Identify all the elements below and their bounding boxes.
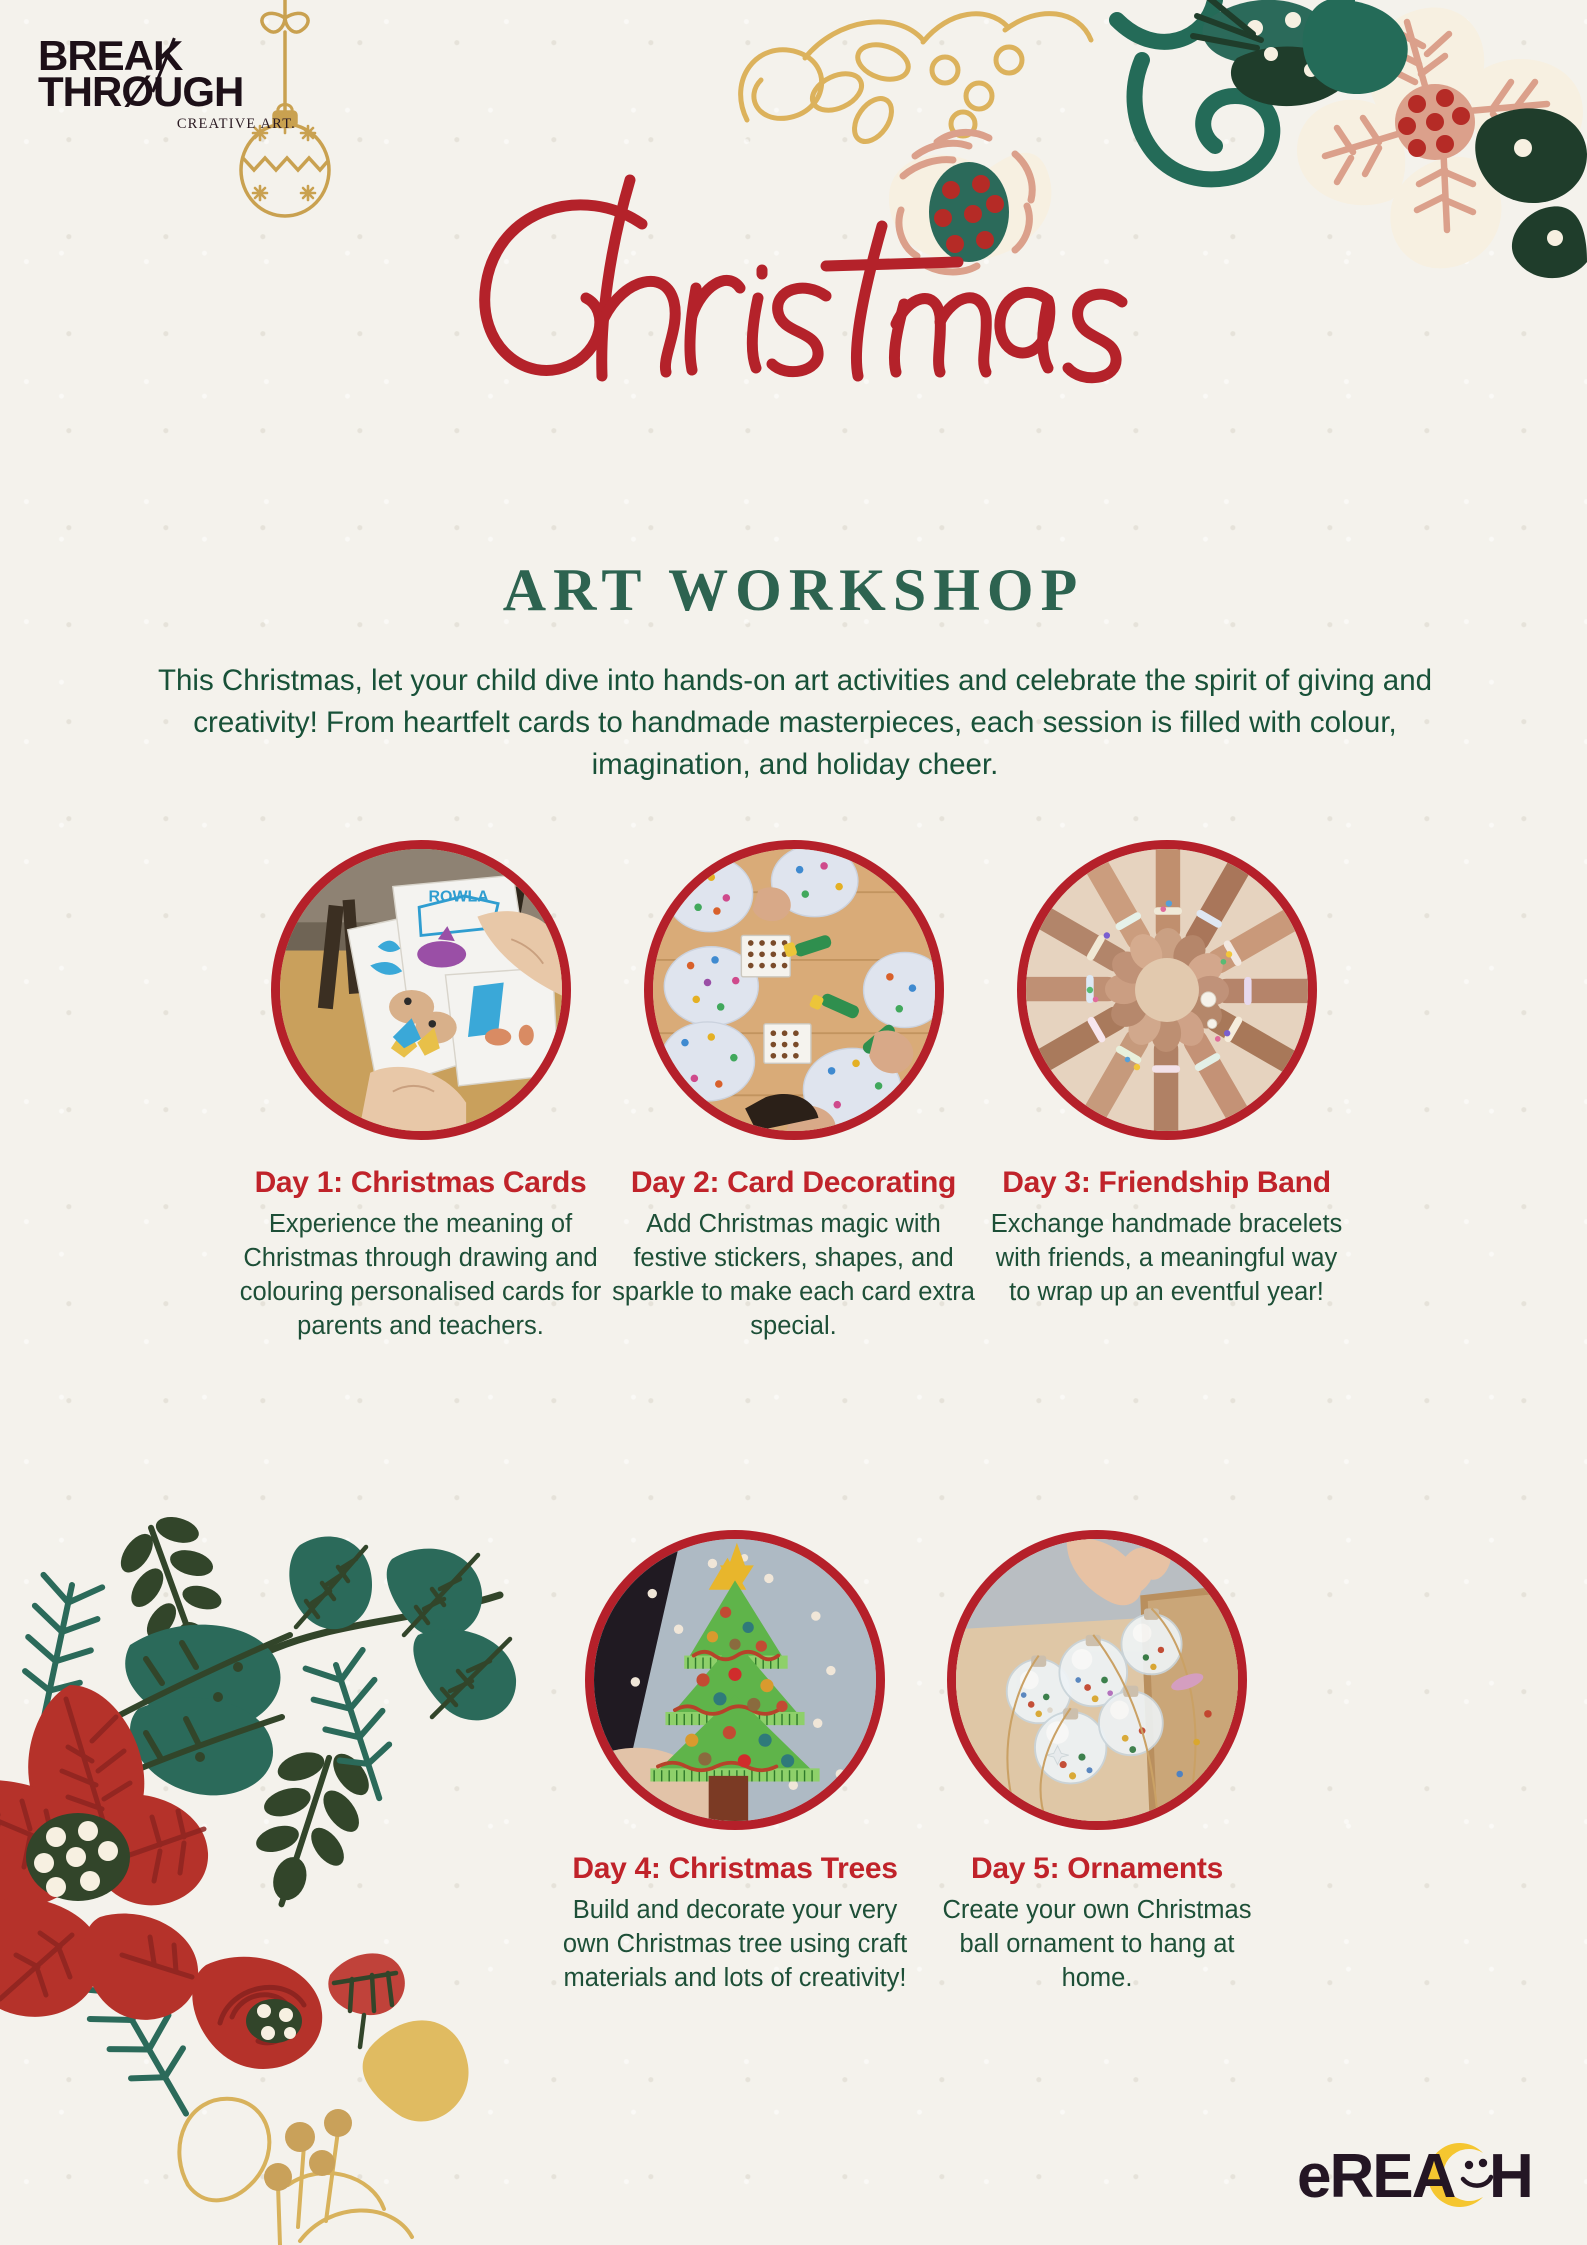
- day-3-description: Exchange handmade bracelets with friends…: [985, 1208, 1348, 1310]
- holly-leaf-icon: [110, 1625, 290, 1796]
- clear-ball-ornaments-with-confetti-image: [956, 1539, 1238, 1821]
- day-2-title: Day 2: Card Decorating: [631, 1166, 956, 1200]
- gold-swirl-icon: [741, 14, 1091, 149]
- gold-berry-sprig-icon: [179, 2020, 468, 2245]
- svg-text:eREA: eREA: [1297, 2142, 1456, 2211]
- pine-branch-icon: [10, 1574, 410, 2131]
- intro-paragraph: This Christmas, let your child dive into…: [150, 660, 1440, 786]
- day-1-title: Day 1: Christmas Cards: [255, 1166, 587, 1200]
- day-1-description: Experience the meaning of Christmas thro…: [239, 1208, 602, 1344]
- poinsettia-flower-icon: [0, 1685, 405, 2069]
- circle-of-arms-with-beaded-bracelets-image: [1026, 849, 1308, 1131]
- day-2-description: Add Christmas magic with festive sticker…: [612, 1208, 975, 1344]
- holly-leaf-icon: [1193, 0, 1353, 106]
- page-subtitle: ART WORKSHOP: [0, 556, 1587, 625]
- pine-branch-icon: [101, 1500, 386, 1925]
- day-3-title: Day 3: Friendship Band: [1002, 1166, 1330, 1200]
- days-row-bottom: Day 4: Christmas Trees Build and decorat…: [560, 1530, 1570, 1996]
- poster-canvas: BREAK THRØUGH CREATIVE ART.: [0, 0, 1587, 2245]
- day-5-title: Day 5: Ornaments: [971, 1852, 1223, 1886]
- holly-leaf-icon: [1303, 0, 1408, 94]
- day-card-5: Day 5: Ornaments Create your own Christm…: [922, 1530, 1272, 1996]
- day-4-title: Day 4: Christmas Trees: [572, 1852, 897, 1886]
- day-1-photo: ROWLA: [271, 840, 571, 1140]
- green-swirl-icon: [1117, 0, 1347, 179]
- day-card-1: ROWLA: [239, 840, 602, 1344]
- svg-text:H: H: [1489, 2142, 1532, 2211]
- brand-logo: BREAK THRØUGH CREATIVE ART.: [38, 38, 298, 133]
- day-4-photo: [585, 1530, 885, 1830]
- day-card-4: Day 4: Christmas Trees Build and decorat…: [560, 1530, 910, 1996]
- day-5-photo: [947, 1530, 1247, 1830]
- day-3-photo: [1017, 840, 1317, 1140]
- paper-craft-christmas-tree-image: [594, 1539, 876, 1821]
- day-4-description: Build and decorate your very own Christm…: [560, 1894, 910, 1996]
- brand-logo-line2: THRØUGH: [38, 74, 298, 110]
- holly-leaf-icon: [260, 1536, 516, 1720]
- bottom-left-floral-decoration: [0, 1485, 520, 2245]
- hands-holding-coloured-drawings-image: ROWLA: [280, 849, 562, 1131]
- overhead-sticker-decorated-cards-image: [653, 849, 935, 1131]
- page-title-script: [0, 170, 1587, 410]
- day-2-photo: [644, 840, 944, 1140]
- partner-logo-ereach: eREA H: [1297, 2135, 1535, 2213]
- day-card-3: Day 3: Friendship Band Exchange handmade…: [985, 840, 1348, 1344]
- day-card-2: Day 2: Card Decorating Add Christmas mag…: [612, 840, 975, 1344]
- days-row-top: ROWLA: [8, 840, 1579, 1344]
- brand-logo-tagline: CREATIVE ART.: [38, 116, 298, 133]
- day-5-description: Create your own Christmas ball ornament …: [922, 1894, 1272, 1996]
